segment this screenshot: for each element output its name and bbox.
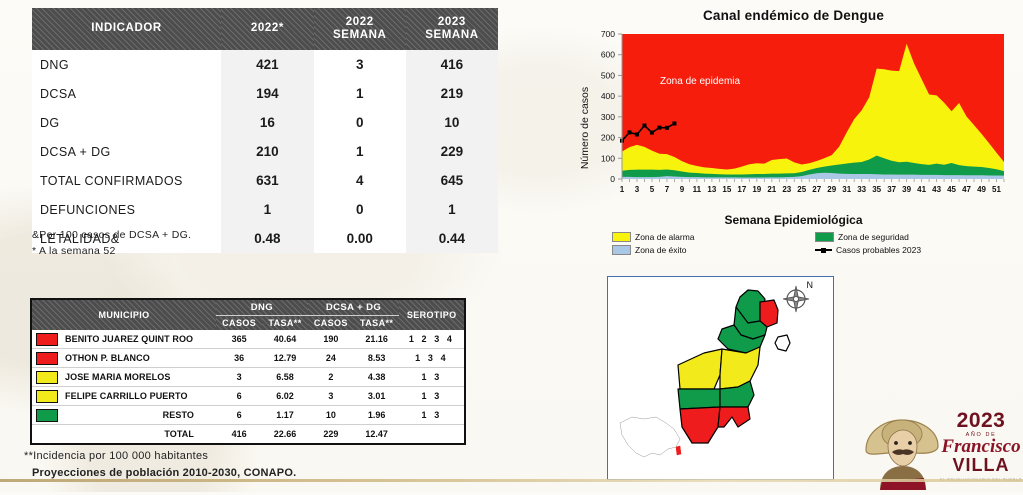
x-tick-label: 19 — [752, 185, 761, 194]
col-header-dng-tasa: TASA** — [262, 316, 307, 331]
col-header-2022-semana-l1: 2022 — [346, 16, 374, 28]
table-row: JOSE MARIA MORELOS36.5824.381 3 — [31, 368, 465, 387]
legend-line-icon — [815, 246, 832, 254]
eye-left — [894, 441, 898, 445]
cell-municipio: BENITO JUAREZ QUINT ROO — [62, 330, 216, 349]
cell-dng-tasa: 12.79 — [262, 349, 307, 368]
line-marker — [672, 121, 676, 125]
legend-label: Zona de éxito — [635, 245, 687, 255]
cell-dng-tasa: 6.58 — [262, 368, 307, 387]
cell-dcsa-casos: 24 — [308, 349, 354, 368]
badge-text: 2023 AÑO DE Francisco VILLA EL REVOLUCIO… — [938, 410, 1023, 482]
cell-2022-semana: 0.00 — [314, 224, 406, 253]
cell-2023-semana: 219 — [406, 79, 498, 108]
legend-item: Zona de alarma — [612, 232, 809, 242]
line-marker — [635, 132, 639, 136]
x-tick-label: 39 — [902, 185, 911, 194]
cell-2023-semana: 229 — [406, 137, 498, 166]
cell-2022-semana: 3 — [314, 50, 406, 79]
x-tick-label: 1 — [620, 185, 625, 194]
y-tick-label: 300 — [601, 112, 615, 122]
color-chip — [36, 390, 58, 403]
x-tick-label: 35 — [872, 185, 881, 194]
cell-2022: 421 — [221, 50, 314, 79]
municipio-table: MUNICIPIO DNG DCSA + DG SEROTIPO CASOS T… — [30, 298, 466, 445]
badge-name-caps: VILLA — [938, 456, 1023, 474]
legend-swatch — [612, 245, 631, 255]
x-tick-label: 47 — [962, 185, 971, 194]
line-marker — [657, 126, 661, 130]
color-chip — [36, 352, 58, 365]
cell-dcsa-casos: 3 — [308, 387, 354, 406]
cell-dcsa-casos: 229 — [308, 425, 354, 445]
cell-serotipo: 1 2 3 4 — [399, 330, 465, 349]
cell-dcsa-tasa: 8.53 — [354, 349, 399, 368]
table-row: DG16010 — [32, 108, 498, 137]
color-swatch-cell — [31, 387, 62, 406]
legend-item: Zona de éxito — [612, 245, 809, 255]
y-tick-label: 200 — [601, 133, 615, 143]
table-row: DEFUNCIONES101 — [32, 195, 498, 224]
table-row-total: TOTAL41622.6622912.47 — [31, 425, 465, 445]
cell-indicador: DCSA — [32, 79, 221, 108]
indicador-table-body: DNG4213416DCSA1941219DG16010DCSA + DG210… — [32, 50, 498, 253]
x-tick-label: 3 — [635, 185, 640, 194]
cell-2023-semana: 0.44 — [406, 224, 498, 253]
color-chip — [36, 409, 58, 422]
cell-2022: 1 — [221, 195, 314, 224]
col-header-municipio: MUNICIPIO — [31, 299, 216, 330]
chart-plot: Zona de epidemia010020030040050060070013… — [566, 4, 1021, 209]
cell-dcsa-tasa: 3.01 — [354, 387, 399, 406]
eye-right — [908, 441, 912, 445]
cell-2022-semana: 1 — [314, 79, 406, 108]
x-tick-label: 9 — [680, 185, 685, 194]
indicador-table: INDICADOR 2022* 2022 SEMANA 2023 SEMANA … — [32, 8, 498, 253]
color-swatch-cell — [31, 349, 62, 368]
indicador-footnotes: &Por 100 casos de DCSA + DG. * A la sema… — [32, 228, 191, 260]
table-row: OTHON P. BLANCO3612.79248.531 3 4 — [31, 349, 465, 368]
cell-municipio: JOSE MARIA MORELOS — [62, 368, 216, 387]
legend-item: Zona de seguridad — [815, 232, 1012, 242]
col-header-dng: DNG — [216, 299, 308, 316]
cell-2022: 631 — [221, 166, 314, 195]
cell-dng-tasa: 22.66 — [262, 425, 307, 445]
table-row: DNG4213416 — [32, 50, 498, 79]
cell-2023-semana: 1 — [406, 195, 498, 224]
col-header-dcsa-casos: CASOS — [308, 316, 354, 331]
line-marker — [642, 124, 646, 128]
cell-2022: 194 — [221, 79, 314, 108]
cell-serotipo — [399, 425, 465, 445]
x-tick-label: 13 — [707, 185, 716, 194]
x-tick-label: 5 — [650, 185, 655, 194]
cell-municipio: OTHON P. BLANCO — [62, 349, 216, 368]
x-tick-label: 49 — [977, 185, 986, 194]
legend-label: Zona de alarma — [635, 232, 695, 242]
cell-indicador: DCSA + DG — [32, 137, 221, 166]
col-header-2023-semana: 2023 SEMANA — [406, 8, 498, 50]
color-chip — [36, 371, 58, 384]
legend-swatch — [815, 232, 834, 242]
endemic-channel-chart: Canal endémico de Dengue Número de casos… — [566, 4, 1021, 262]
legend-label: Zona de seguridad — [838, 232, 909, 242]
x-tick-label: 23 — [782, 185, 791, 194]
map-region-jose-maria-morelos — [678, 349, 722, 389]
x-tick-label: 11 — [693, 185, 702, 194]
color-swatch-cell — [31, 406, 62, 425]
cell-dng-casos: 3 — [216, 368, 262, 387]
face-shape — [888, 430, 917, 466]
map-region-cozumel-island — [775, 335, 790, 351]
y-tick-label: 100 — [601, 153, 615, 163]
chart-legend: Zona de alarmaZona de seguridadZona de é… — [612, 232, 1012, 255]
cell-dcsa-tasa: 12.47 — [354, 425, 399, 445]
cell-municipio: RESTO — [62, 406, 216, 425]
col-header-serotipo: SEROTIPO — [399, 299, 465, 330]
cell-serotipo: 1 3 — [399, 406, 465, 425]
x-tick-label: 7 — [665, 185, 670, 194]
badge-name-script: Francisco — [938, 437, 1023, 456]
map-region-othon-p-blanco-east — [718, 407, 750, 427]
x-tick-label: 27 — [812, 185, 821, 194]
col-header-2023-semana-l2: SEMANA — [425, 29, 478, 41]
francisco-villa-badge: 2023 AÑO DE Francisco VILLA EL REVOLUCIO… — [858, 404, 1023, 490]
municipio-table-body: BENITO JUAREZ QUINT ROO36540.6419021.161… — [31, 330, 465, 444]
municipio-table-head: MUNICIPIO DNG DCSA + DG SEROTIPO CASOS T… — [31, 299, 465, 330]
x-tick-label: 31 — [842, 185, 851, 194]
col-header-2022-semana: 2022 SEMANA — [314, 8, 406, 50]
chart-xlabel: Semana Epidemiológica — [566, 213, 1021, 227]
municipio-footnote-1: **Incidencia por 100 000 habitantes — [24, 448, 296, 465]
x-tick-label: 43 — [932, 185, 941, 194]
legend-label: Casos probables 2023 — [836, 245, 921, 255]
cell-2022: 0.48 — [221, 224, 314, 253]
cell-dng-casos: 36 — [216, 349, 262, 368]
col-header-dcsa-dg: DCSA + DG — [308, 299, 400, 316]
cell-dng-tasa: 1.17 — [262, 406, 307, 425]
bottom-divider — [0, 479, 1023, 482]
col-header-dcsa-tasa: TASA** — [354, 316, 399, 331]
cell-2022: 210 — [221, 137, 314, 166]
y-tick-label: 400 — [601, 91, 615, 101]
legend-swatch — [612, 232, 631, 242]
color-chip — [36, 333, 58, 346]
cell-indicador: DNG — [32, 50, 221, 79]
cell-dng-tasa: 6.02 — [262, 387, 307, 406]
x-tick-label: 45 — [947, 185, 956, 194]
cell-municipio: TOTAL — [62, 425, 216, 445]
y-tick-label: 600 — [601, 50, 615, 60]
villa-portrait-icon — [858, 404, 944, 490]
cell-2022-semana: 0 — [314, 108, 406, 137]
cell-serotipo: 1 3 — [399, 387, 465, 406]
x-tick-label: 41 — [917, 185, 926, 194]
cell-2023-semana: 416 — [406, 50, 498, 79]
cell-serotipo: 1 3 4 — [399, 349, 465, 368]
indicador-header-row: INDICADOR 2022* 2022 SEMANA 2023 SEMANA — [32, 8, 498, 50]
municipio-header-row-1: MUNICIPIO DNG DCSA + DG SEROTIPO — [31, 299, 465, 316]
color-swatch-cell — [31, 330, 62, 349]
cell-2022-semana: 1 — [314, 137, 406, 166]
mexico-inset-map — [620, 417, 681, 457]
table-row: DCSA1941219 — [32, 79, 498, 108]
cell-dng-casos: 365 — [216, 330, 262, 349]
compass-north-label: N — [807, 280, 814, 290]
indicador-footnote-1: &Por 100 casos de DCSA + DG. — [32, 228, 191, 244]
x-tick-label: 17 — [737, 185, 746, 194]
line-marker — [665, 126, 669, 130]
x-tick-label: 29 — [827, 185, 836, 194]
color-swatch-cell — [31, 368, 62, 387]
municipio-footnotes: **Incidencia por 100 000 habitantes Proy… — [24, 448, 296, 481]
x-tick-label: 37 — [887, 185, 896, 194]
cell-2022: 16 — [221, 108, 314, 137]
line-marker — [650, 131, 654, 135]
x-tick-label: 33 — [857, 185, 866, 194]
cell-2022-semana: 0 — [314, 195, 406, 224]
table-row: BENITO JUAREZ QUINT ROO36540.6419021.161… — [31, 330, 465, 349]
x-tick-label: 15 — [722, 185, 731, 194]
quintana-roo-map: N — [607, 276, 834, 480]
cell-2023-semana: 10 — [406, 108, 498, 137]
cell-indicador: TOTAL CONFIRMADOS — [32, 166, 221, 195]
cell-dcsa-casos: 2 — [308, 368, 354, 387]
compass-rose-icon — [783, 286, 809, 312]
cell-2023-semana: 645 — [406, 166, 498, 195]
map-svg — [608, 277, 830, 476]
cell-dcsa-casos: 190 — [308, 330, 354, 349]
table-row: TOTAL CONFIRMADOS6314645 — [32, 166, 498, 195]
cell-2022-semana: 4 — [314, 166, 406, 195]
indicador-table-head: INDICADOR 2022* 2022 SEMANA 2023 SEMANA — [32, 8, 498, 50]
map-region-bacalar-west — [678, 389, 720, 409]
indicador-footnote-2: * A la semana 52 — [32, 244, 191, 260]
cell-dng-casos: 6 — [216, 406, 262, 425]
col-header-2023-semana-l1: 2023 — [438, 16, 466, 28]
y-tick-label: 500 — [601, 70, 615, 80]
chart-annotation-epidemia: Zona de epidemia — [660, 76, 740, 87]
line-marker — [627, 130, 631, 134]
cell-dng-tasa: 40.64 — [262, 330, 307, 349]
x-tick-label: 51 — [992, 185, 1001, 194]
x-tick-label: 25 — [797, 185, 806, 194]
table-row: DCSA + DG2101229 — [32, 137, 498, 166]
col-header-indicador: INDICADOR — [32, 8, 221, 50]
color-swatch-cell — [31, 425, 62, 445]
col-header-2022: 2022* — [221, 8, 314, 50]
cell-dcsa-tasa: 4.38 — [354, 368, 399, 387]
table-row: FELIPE CARRILLO PUERTO66.0233.011 3 — [31, 387, 465, 406]
cell-serotipo: 1 3 — [399, 368, 465, 387]
cell-dng-casos: 416 — [216, 425, 262, 445]
badge-year: 2023 — [938, 410, 1023, 431]
cell-dcsa-casos: 10 — [308, 406, 354, 425]
legend-item: Casos probables 2023 — [815, 245, 1012, 255]
col-header-dng-casos: CASOS — [216, 316, 262, 331]
x-tick-label: 21 — [767, 185, 776, 194]
y-tick-label: 700 — [601, 29, 615, 39]
cell-indicador: DEFUNCIONES — [32, 195, 221, 224]
cell-municipio: FELIPE CARRILLO PUERTO — [62, 387, 216, 406]
cell-dcsa-tasa: 21.16 — [354, 330, 399, 349]
cell-dcsa-tasa: 1.96 — [354, 406, 399, 425]
col-header-2022-semana-l2: SEMANA — [333, 29, 386, 41]
map-region-felipe-carrillo-puerto — [720, 347, 760, 389]
cell-dng-casos: 6 — [216, 387, 262, 406]
map-region-othon-p-blanco-west — [680, 407, 720, 443]
table-row: RESTO61.17101.961 3 — [31, 406, 465, 425]
y-tick-label: 0 — [610, 174, 615, 184]
cell-indicador: DG — [32, 108, 221, 137]
